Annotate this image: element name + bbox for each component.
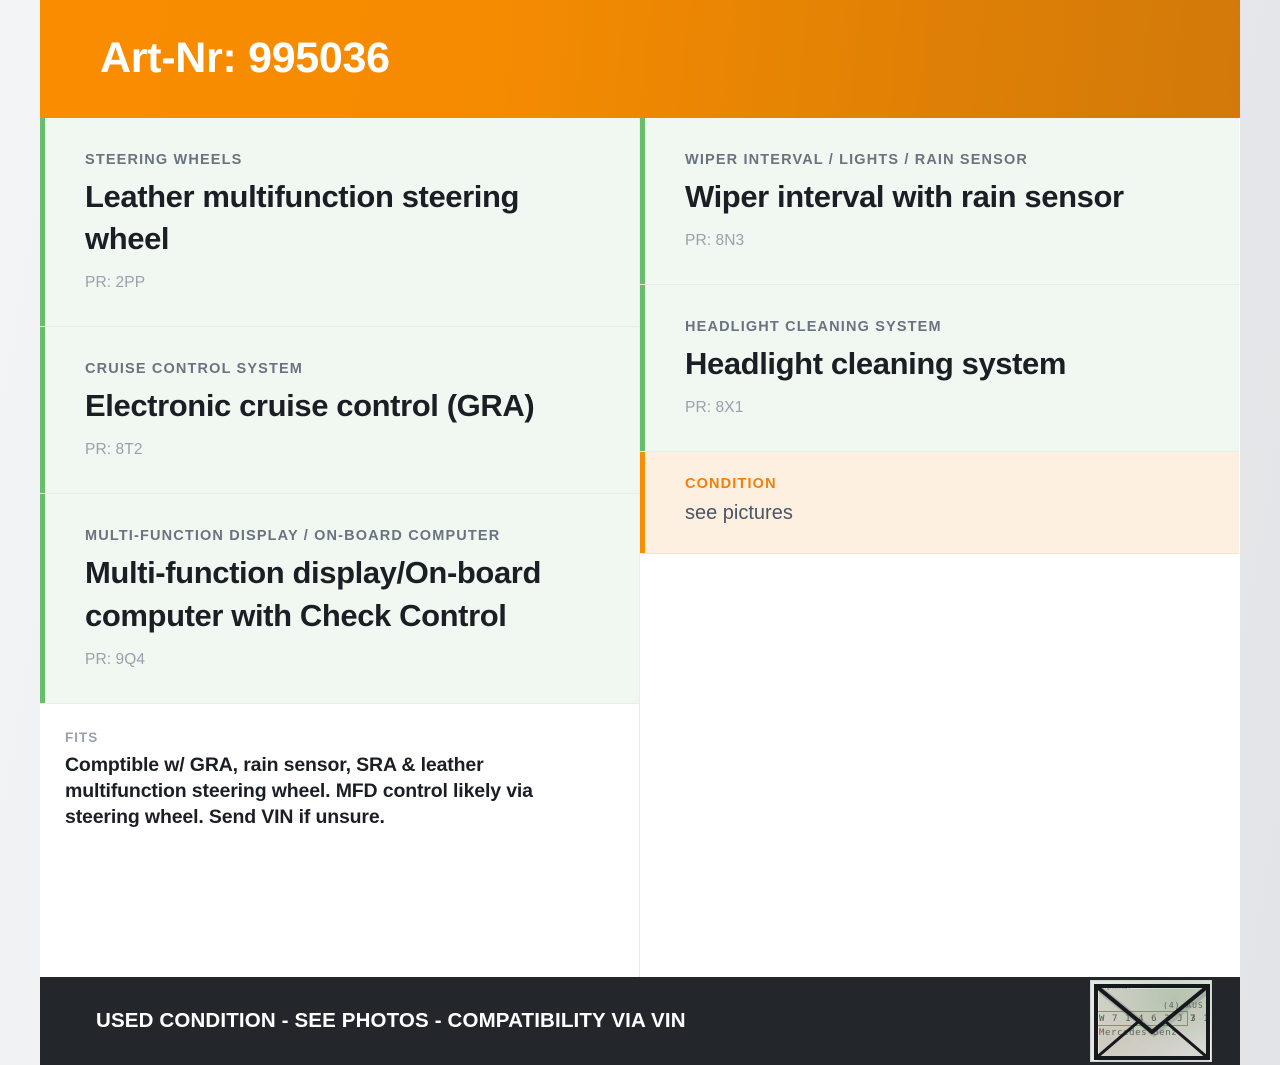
left-column-filler bbox=[40, 861, 639, 977]
feature-card-headlight-cleaning[interactable]: HEADLIGHT CLEANING SYSTEM Headlight clea… bbox=[640, 285, 1239, 452]
page-title: Art-Nr: 995036 bbox=[100, 36, 390, 81]
condition-label: CONDITION bbox=[685, 476, 1193, 492]
listing-sheet: Art-Nr: 995036 STEERING WHEELS Leather m… bbox=[40, 0, 1240, 1065]
fits-section: FITS Comptible w/ GRA, rain sensor, SRA … bbox=[40, 704, 639, 861]
feature-category: WIPER INTERVAL / LIGHTS / RAIN SENSOR bbox=[685, 152, 1193, 168]
feature-card-steering-wheel[interactable]: STEERING WHEELS Leather multifunction st… bbox=[40, 118, 639, 327]
broken-image-envelope-icon[interactable]: Fahrgestellnr. (4) AUS W 7 1 4 6 3 J 3 1… bbox=[1090, 980, 1212, 1062]
feature-title: Leather multifunction steering wheel bbox=[85, 176, 593, 260]
feature-pr-code: PR: 2PP bbox=[85, 274, 593, 292]
feature-pr-code: PR: 8T2 bbox=[85, 441, 593, 459]
condition-card[interactable]: CONDITION see pictures bbox=[640, 452, 1239, 554]
left-column: STEERING WHEELS Leather multifunction st… bbox=[40, 118, 640, 977]
feature-category: CRUISE CONTROL SYSTEM bbox=[85, 361, 593, 377]
fits-label: FITS bbox=[65, 730, 593, 745]
feature-pr-code: PR: 8N3 bbox=[685, 232, 1193, 250]
feature-category: HEADLIGHT CLEANING SYSTEM bbox=[685, 319, 1193, 335]
footer-disclaimer: USED CONDITION - SEE PHOTOS - COMPATIBIL… bbox=[96, 1009, 686, 1033]
condition-value: see pictures bbox=[685, 500, 1193, 527]
header-banner: Art-Nr: 995036 bbox=[40, 0, 1240, 118]
right-column-filler bbox=[640, 554, 1239, 977]
footer-bar: USED CONDITION - SEE PHOTOS - COMPATIBIL… bbox=[40, 977, 1240, 1065]
feature-pr-code: PR: 8X1 bbox=[685, 399, 1193, 417]
feature-category: STEERING WHEELS bbox=[85, 152, 593, 168]
feature-card-multi-function-display[interactable]: MULTI-FUNCTION DISPLAY / ON-BOARD COMPUT… bbox=[40, 494, 639, 703]
feature-pr-code: PR: 9Q4 bbox=[85, 651, 593, 669]
feature-category: MULTI-FUNCTION DISPLAY / ON-BOARD COMPUT… bbox=[85, 528, 593, 544]
right-column: WIPER INTERVAL / LIGHTS / RAIN SENSOR Wi… bbox=[640, 118, 1239, 977]
feature-card-rain-sensor[interactable]: WIPER INTERVAL / LIGHTS / RAIN SENSOR Wi… bbox=[640, 118, 1239, 285]
feature-title: Headlight cleaning system bbox=[685, 343, 1193, 385]
feature-title: Multi-function display/On-board computer… bbox=[85, 552, 593, 636]
feature-title: Electronic cruise control (GRA) bbox=[85, 385, 593, 427]
feature-columns: STEERING WHEELS Leather multifunction st… bbox=[40, 118, 1240, 977]
envelope-glyph-icon bbox=[1094, 984, 1210, 1060]
feature-title: Wiper interval with rain sensor bbox=[685, 176, 1193, 218]
feature-card-cruise-control[interactable]: CRUISE CONTROL SYSTEM Electronic cruise … bbox=[40, 327, 639, 494]
fits-text: Comptible w/ GRA, rain sensor, SRA & lea… bbox=[65, 753, 593, 831]
